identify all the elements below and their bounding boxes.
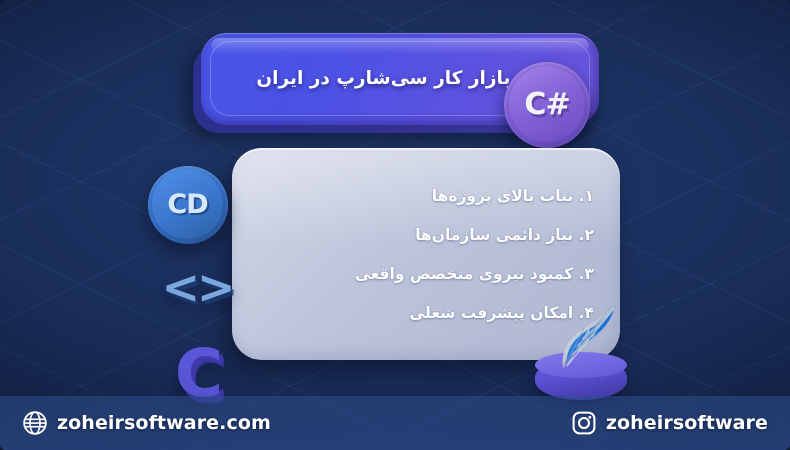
infographic-canvas: مزایای بازار کار سی‌شارپ در ایران C# ۱. … [0,0,790,450]
csharp-badge-icon: C# [504,62,590,148]
cd-badge-face: CD [152,169,223,239]
list-item: ۲. نیاز دائمی سازمان‌ها [258,218,594,253]
cd-badge-icon: CD [148,166,228,244]
csharp-badge-face: C# [509,66,585,142]
instagram-link[interactable]: zoheirsoftware [571,410,768,436]
footer-bar: zoheirsoftware.com zoheirsoftware [0,396,790,450]
csharp-badge-label: C# [524,87,569,122]
list-item: ۱. ثبات بالای پروژه‌ها [258,179,594,214]
website-label: zoheirsoftware.com [57,412,271,434]
cd-badge-label: CD [167,189,207,220]
globe-www-icon [22,410,48,436]
sql-server-icon [527,296,639,404]
code-brackets-icon: <> [158,256,236,318]
website-link[interactable]: zoheirsoftware.com [22,410,271,436]
instagram-icon [571,410,597,436]
instagram-label: zoheirsoftware [606,412,768,434]
sql-server-wing-glyph [541,294,627,380]
list-item: ۳. کمبود نیروی متخصص واقعی [258,257,594,292]
